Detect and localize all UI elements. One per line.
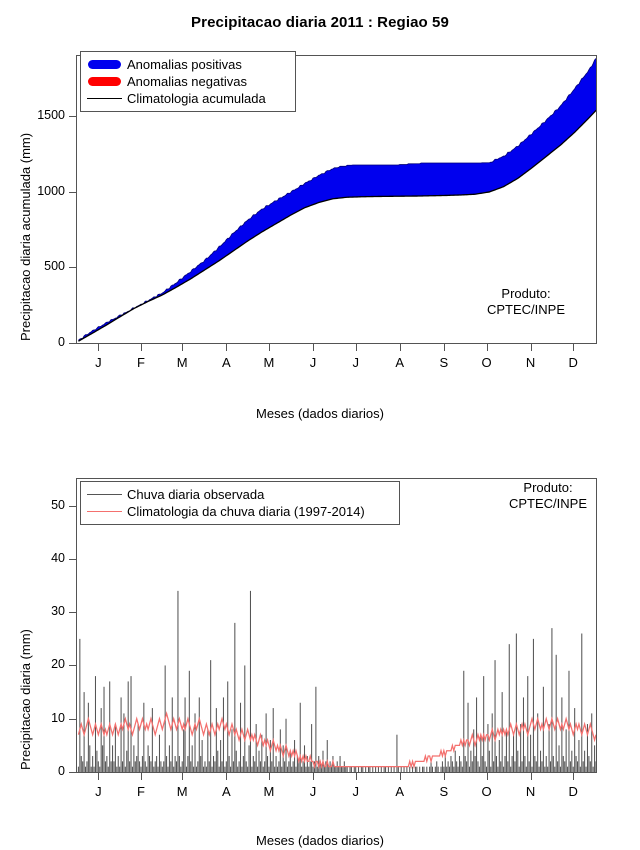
x-axis-tick-label: A (388, 355, 412, 370)
legend-swatch-climatology (81, 90, 127, 107)
x-axis-tick-label: J (86, 355, 110, 370)
legend-swatch-observed (81, 486, 127, 503)
x-axis-tick-label: M (257, 784, 281, 799)
x-axis-tick-label: M (170, 784, 194, 799)
x-axis-tick-label: F (129, 355, 153, 370)
y-axis-tick-label: 1000 (5, 184, 65, 198)
x-axis-tick-label: A (214, 784, 238, 799)
bottom-chart-produto-note: Produto: CPTEC/INPE (488, 480, 608, 512)
y-axis-tick-label: 10 (5, 711, 65, 725)
produto-value: CPTEC/INPE (509, 496, 587, 511)
x-axis-tick-label: M (257, 355, 281, 370)
x-axis-tick-label: J (344, 355, 368, 370)
axis-tick (69, 559, 76, 560)
axis-tick (69, 772, 76, 773)
axis-tick (356, 344, 357, 351)
x-axis-tick-label: O (475, 355, 499, 370)
x-axis-tick-label: J (344, 784, 368, 799)
y-axis-tick-label: 20 (5, 657, 65, 671)
axis-tick (98, 344, 99, 351)
legend-swatch-positive (81, 56, 127, 73)
legend-label-chuva-observada: Chuva diaria observada (127, 487, 264, 502)
produto-label: Produto: (523, 480, 572, 495)
x-axis-tick-label: N (519, 784, 543, 799)
page-title: Precipitacao diaria 2011 : Regiao 59 (0, 14, 640, 31)
axis-tick (141, 344, 142, 351)
axis-tick (573, 773, 574, 780)
y-axis-tick-label: 0 (5, 764, 65, 778)
y-axis-tick-label: 1500 (5, 108, 65, 122)
bottom-chart-x-axis-title: Meses (dados diarios) (0, 833, 640, 848)
axis-tick (226, 344, 227, 351)
axis-tick (141, 773, 142, 780)
axis-tick (444, 344, 445, 351)
axis-tick (69, 506, 76, 507)
x-axis-tick-label: O (475, 784, 499, 799)
axis-tick (69, 116, 76, 117)
x-axis-tick-label: D (561, 784, 585, 799)
axis-tick (69, 719, 76, 720)
top-chart-produto-note: Produto: CPTEC/INPE (466, 286, 586, 318)
axis-tick (69, 665, 76, 666)
bottom-chart-legend: Chuva diaria observada Climatologia da c… (80, 481, 400, 525)
x-axis-tick-label: M (170, 355, 194, 370)
x-axis-tick-label: A (214, 355, 238, 370)
legend-item-climatologia-diaria: Climatologia da chuva diaria (1997-2014) (81, 503, 399, 520)
produto-label: Produto: (501, 286, 550, 301)
axis-tick (573, 344, 574, 351)
legend-item-anomalias-positivas: Anomalias positivas (81, 56, 295, 73)
axis-tick (226, 773, 227, 780)
axis-tick (531, 344, 532, 351)
axis-tick (400, 773, 401, 780)
legend-item-chuva-observada: Chuva diaria observada (81, 486, 399, 503)
axis-tick (400, 344, 401, 351)
legend-label-climatologia-acumulada: Climatologia acumulada (127, 91, 266, 106)
legend-label-anomalias-negativas: Anomalias negativas (127, 74, 247, 89)
axis-tick (182, 344, 183, 351)
y-axis-tick-label: 30 (5, 604, 65, 618)
y-axis-tick-label: 0 (5, 335, 65, 349)
x-axis-tick-label: F (129, 784, 153, 799)
legend-swatch-negative (81, 73, 127, 90)
axis-tick (98, 773, 99, 780)
axis-tick (182, 773, 183, 780)
axis-tick (444, 773, 445, 780)
axis-tick (313, 773, 314, 780)
axis-tick (69, 192, 76, 193)
cumulative-precipitation-panel: Precipitacao diaria 2011 : Regiao 59 Pre… (0, 0, 640, 430)
legend-label-climatologia-diaria: Climatologia da chuva diaria (1997-2014) (127, 504, 365, 519)
bottom-chart-y-axis-title: Precipitacao diaria (mm) (18, 629, 33, 770)
x-axis-tick-label: A (388, 784, 412, 799)
legend-label-anomalias-positivas: Anomalias positivas (127, 57, 242, 72)
y-axis-tick-label: 50 (5, 498, 65, 512)
axis-tick (69, 612, 76, 613)
daily-precipitation-panel: Precipitacao diaria (mm) Produto: CPTEC/… (0, 430, 640, 850)
y-axis-tick-label: 500 (5, 259, 65, 273)
axis-tick (269, 773, 270, 780)
x-axis-tick-label: J (301, 784, 325, 799)
axis-tick (69, 267, 76, 268)
top-chart-legend: Anomalias positivas Anomalias negativas … (80, 51, 296, 112)
axis-tick (487, 773, 488, 780)
x-axis-tick-label: N (519, 355, 543, 370)
x-axis-tick-label: S (432, 784, 456, 799)
top-chart-y-axis-title: Precipitacao diaria acumulada (mm) (18, 133, 33, 341)
x-axis-tick-label: J (86, 784, 110, 799)
axis-tick (487, 344, 488, 351)
axis-tick (356, 773, 357, 780)
axis-tick (313, 344, 314, 351)
y-axis-tick-label: 40 (5, 551, 65, 565)
x-axis-tick-label: D (561, 355, 585, 370)
legend-swatch-climatology-daily (81, 503, 127, 520)
axis-tick (269, 344, 270, 351)
legend-item-anomalias-negativas: Anomalias negativas (81, 73, 295, 90)
axis-tick (69, 343, 76, 344)
x-axis-tick-label: J (301, 355, 325, 370)
legend-item-climatologia-acumulada: Climatologia acumulada (81, 90, 295, 107)
produto-value: CPTEC/INPE (487, 302, 565, 317)
axis-tick (531, 773, 532, 780)
top-chart-x-axis-title: Meses (dados diarios) (0, 406, 640, 421)
x-axis-tick-label: S (432, 355, 456, 370)
